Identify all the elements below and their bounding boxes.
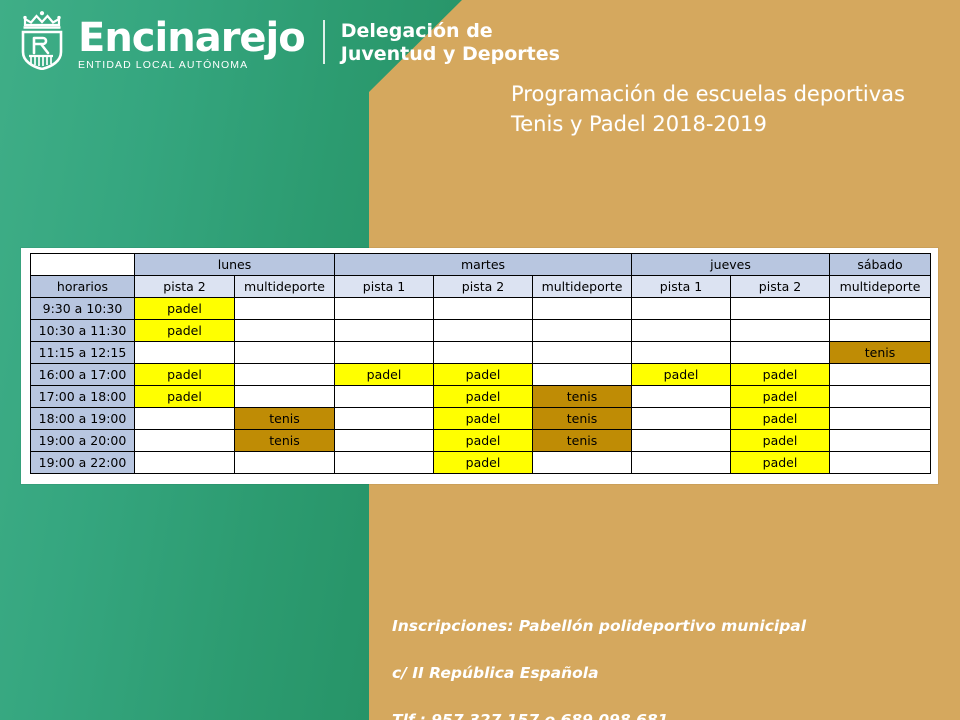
court-header-row: horarios pista 2multideportepista 1pista…: [31, 276, 931, 298]
empty-cell: [434, 320, 533, 342]
court-header-2: pista 1: [335, 276, 434, 298]
activity-cell-padel: padel: [335, 364, 434, 386]
time-label-3: 16:00 a 17:00: [31, 364, 135, 386]
empty-cell: [533, 452, 632, 474]
empty-cell: [235, 320, 335, 342]
activity-cell-padel: padel: [731, 386, 830, 408]
logo-header: Encinarejo ENTIDAD LOCAL AUTÓNOMA Delega…: [14, 8, 560, 70]
empty-cell: [830, 320, 931, 342]
activity-cell-padel: padel: [135, 364, 235, 386]
empty-cell: [533, 320, 632, 342]
empty-cell: [632, 408, 731, 430]
activity-cell-padel: padel: [434, 452, 533, 474]
empty-cell: [335, 320, 434, 342]
court-header-0: pista 2: [135, 276, 235, 298]
contact-info: Inscripciones: Pabellón polideportivo mu…: [392, 591, 806, 720]
empty-cell: [335, 386, 434, 408]
schedule-panel: lunesmartesjuevessábado horarios pista 2…: [21, 248, 938, 484]
empty-cell: [235, 452, 335, 474]
empty-cell: [335, 298, 434, 320]
empty-cell: [632, 298, 731, 320]
empty-cell: [235, 342, 335, 364]
schedule-row: 17:00 a 18:00padelpadeltenispadel: [31, 386, 931, 408]
empty-cell: [632, 342, 731, 364]
activity-cell-padel: padel: [434, 408, 533, 430]
time-label-7: 19:00 a 22:00: [31, 452, 135, 474]
empty-cell: [632, 452, 731, 474]
activity-cell-padel: padel: [731, 430, 830, 452]
schedule-row: 19:00 a 20:00tenispadeltenispadel: [31, 430, 931, 452]
delegation-line-2: Juventud y Deportes: [341, 43, 560, 66]
empty-cell: [335, 342, 434, 364]
empty-cell: [335, 408, 434, 430]
schedule-row: 18:00 a 19:00tenispadeltenispadel: [31, 408, 931, 430]
activity-cell-padel: padel: [135, 386, 235, 408]
delegation-title: Delegación de Juventud y Deportes: [341, 20, 560, 70]
empty-cell: [434, 298, 533, 320]
schedule-row: 16:00 a 17:00padelpadelpadelpadelpadel: [31, 364, 931, 386]
court-header-1: multideporte: [235, 276, 335, 298]
empty-cell: [632, 430, 731, 452]
empty-cell: [533, 298, 632, 320]
slide-canvas: Encinarejo ENTIDAD LOCAL AUTÓNOMA Delega…: [0, 0, 960, 720]
time-label-2: 11:15 a 12:15: [31, 342, 135, 364]
empty-cell: [533, 342, 632, 364]
court-header-6: pista 2: [731, 276, 830, 298]
court-header-5: pista 1: [632, 276, 731, 298]
activity-cell-tenis: tenis: [533, 430, 632, 452]
time-label-5: 18:00 a 19:00: [31, 408, 135, 430]
empty-cell: [135, 452, 235, 474]
time-label-0: 9:30 a 10:30: [31, 298, 135, 320]
schedule-row: 19:00 a 22:00padelpadel: [31, 452, 931, 474]
empty-cell: [632, 320, 731, 342]
empty-cell: [830, 452, 931, 474]
empty-cell: [830, 298, 931, 320]
empty-cell: [830, 386, 931, 408]
page-title-line-1: Programación de escuelas deportivas: [511, 80, 905, 110]
time-label-1: 10:30 a 11:30: [31, 320, 135, 342]
empty-cell: [235, 298, 335, 320]
empty-cell: [830, 430, 931, 452]
empty-cell: [235, 386, 335, 408]
activity-cell-tenis: tenis: [235, 408, 335, 430]
activity-cell-tenis: tenis: [830, 342, 931, 364]
day-header-jueves: jueves: [632, 254, 830, 276]
empty-cell: [335, 452, 434, 474]
empty-cell: [830, 364, 931, 386]
activity-cell-padel: padel: [731, 408, 830, 430]
brand-text: Encinarejo ENTIDAD LOCAL AUTÓNOMA: [78, 18, 305, 70]
activity-cell-padel: padel: [731, 452, 830, 474]
schedule-row: 9:30 a 10:30padel: [31, 298, 931, 320]
activity-cell-padel: padel: [135, 298, 235, 320]
activity-cell-padel: padel: [434, 364, 533, 386]
contact-line-3: Tlf.: 957 327 157 o 689 098 681: [392, 709, 806, 720]
activity-cell-padel: padel: [632, 364, 731, 386]
empty-cell: [135, 342, 235, 364]
empty-cell: [335, 430, 434, 452]
delegation-line-1: Delegación de: [341, 20, 560, 43]
activity-cell-tenis: tenis: [235, 430, 335, 452]
logo-divider: [323, 20, 325, 64]
empty-cell: [235, 364, 335, 386]
schedule-table-body: 9:30 a 10:30padel10:30 a 11:30padel11:15…: [31, 298, 931, 474]
empty-cell: [731, 320, 830, 342]
header-corner-blank: [31, 254, 135, 276]
activity-cell-tenis: tenis: [533, 386, 632, 408]
schedule-row: 11:15 a 12:15tenis: [31, 342, 931, 364]
day-header-row: lunesmartesjuevessábado: [31, 254, 931, 276]
time-label-4: 17:00 a 18:00: [31, 386, 135, 408]
contact-line-2: c/ II República Española: [392, 662, 806, 686]
empty-cell: [731, 342, 830, 364]
schedule-row: 10:30 a 11:30padel: [31, 320, 931, 342]
activity-cell-padel: padel: [135, 320, 235, 342]
empty-cell: [135, 430, 235, 452]
time-label-6: 19:00 a 20:00: [31, 430, 135, 452]
page-title-line-2: Tenis y Padel 2018-2019: [511, 110, 905, 140]
activity-cell-padel: padel: [434, 386, 533, 408]
empty-cell: [830, 408, 931, 430]
empty-cell: [533, 364, 632, 386]
header-horarios: horarios: [31, 276, 135, 298]
activity-cell-tenis: tenis: [533, 408, 632, 430]
empty-cell: [632, 386, 731, 408]
day-header-sábado: sábado: [830, 254, 931, 276]
brand-subtitle: ENTIDAD LOCAL AUTÓNOMA: [78, 60, 305, 71]
schedule-table: lunesmartesjuevessábado horarios pista 2…: [30, 253, 931, 474]
page-title: Programación de escuelas deportivas Teni…: [511, 80, 905, 140]
court-header-4: multideporte: [533, 276, 632, 298]
day-header-martes: martes: [335, 254, 632, 276]
court-header-7: multideporte: [830, 276, 931, 298]
schedule-table-head: lunesmartesjuevessábado horarios pista 2…: [31, 254, 931, 298]
encinarejo-crest-icon: [14, 8, 70, 70]
day-header-lunes: lunes: [135, 254, 335, 276]
brand-name: Encinarejo: [78, 18, 305, 59]
empty-cell: [731, 298, 830, 320]
activity-cell-padel: padel: [731, 364, 830, 386]
empty-cell: [135, 408, 235, 430]
contact-line-1: Inscripciones: Pabellón polideportivo mu…: [392, 615, 806, 639]
court-header-3: pista 2: [434, 276, 533, 298]
activity-cell-padel: padel: [434, 430, 533, 452]
empty-cell: [434, 342, 533, 364]
